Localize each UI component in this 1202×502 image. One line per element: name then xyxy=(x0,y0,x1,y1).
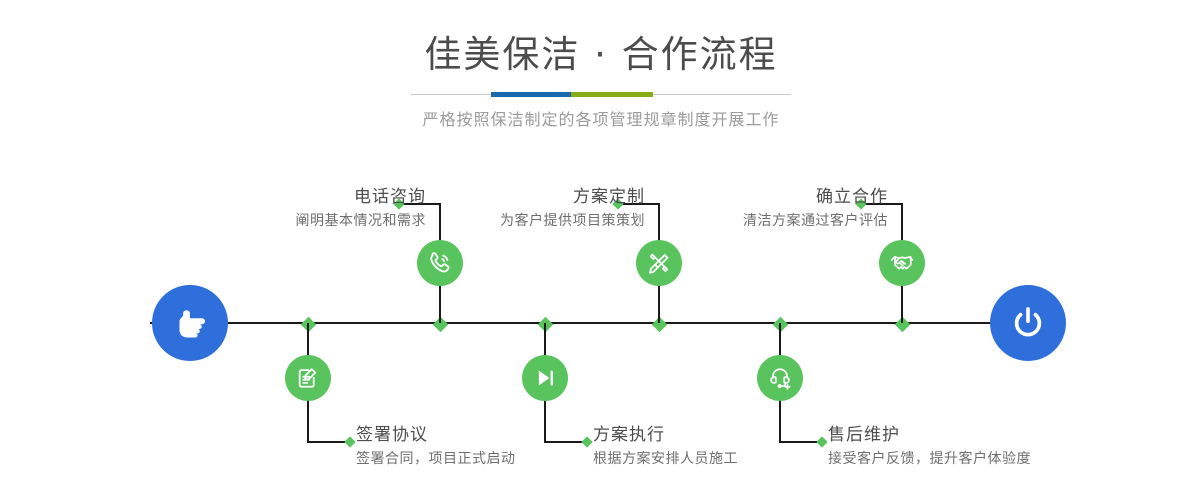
step-icon-handshake[interactable] xyxy=(879,240,925,286)
pencil-ruler-icon xyxy=(645,249,673,277)
step-label-step-2: 签署协议 签署合同，项目正式启动 xyxy=(356,424,516,469)
phone-call-icon xyxy=(426,249,454,277)
handshake-icon xyxy=(888,249,916,277)
step-desc: 签署合同，项目正式启动 xyxy=(356,449,516,469)
step-icon-headset-add[interactable] xyxy=(757,355,803,401)
step-desc: 阐明基本情况和需求 xyxy=(296,211,427,231)
pointing-hand-icon xyxy=(169,302,211,344)
step-icon-document-edit[interactable] xyxy=(285,355,331,401)
step-desc: 接受客户反馈，提升客户体验度 xyxy=(828,449,1031,469)
step-title: 方案定制 xyxy=(500,186,645,208)
process-timeline: 电话咨询 阐明基本情况和需求 签署协议 签署合同，项目正式启动 xyxy=(0,0,1202,502)
play-next-icon xyxy=(531,364,559,392)
connector-dot-step-2 xyxy=(344,436,355,447)
step-label-step-6: 售后维护 接受客户反馈，提升客户体验度 xyxy=(828,424,1031,469)
step-title: 方案执行 xyxy=(593,424,738,446)
headset-add-icon xyxy=(766,364,794,392)
step-desc: 为客户提供项目策策划 xyxy=(500,211,645,231)
timeline-end-node xyxy=(990,285,1066,361)
step-icon-pencil-ruler[interactable] xyxy=(636,240,682,286)
step-title: 签署协议 xyxy=(356,424,516,446)
step-icon-phone-call[interactable] xyxy=(417,240,463,286)
flow-diagram-page: 佳美保洁 · 合作流程 严格按照保洁制定的各项管理规章制度开展工作 xyxy=(0,0,1202,502)
step-label-step-1: 电话咨询 阐明基本情况和需求 xyxy=(296,186,427,231)
timeline-start-node xyxy=(152,285,228,361)
step-title: 电话咨询 xyxy=(296,186,427,208)
step-title: 售后维护 xyxy=(828,424,1031,446)
step-title: 确立合作 xyxy=(743,186,888,208)
step-label-step-3: 方案定制 为客户提供项目策策划 xyxy=(500,186,645,231)
power-icon xyxy=(1007,302,1049,344)
step-label-step-4: 方案执行 根据方案安排人员施工 xyxy=(593,424,738,469)
step-desc: 根据方案安排人员施工 xyxy=(593,449,738,469)
connector-dot-step-6 xyxy=(816,436,827,447)
timeline-axis xyxy=(150,322,1052,324)
connector-dot-step-4 xyxy=(581,436,592,447)
step-icon-play-next[interactable] xyxy=(522,355,568,401)
step-label-step-5: 确立合作 清洁方案通过客户评估 xyxy=(743,186,888,231)
document-edit-icon xyxy=(294,364,322,392)
step-desc: 清洁方案通过客户评估 xyxy=(743,211,888,231)
